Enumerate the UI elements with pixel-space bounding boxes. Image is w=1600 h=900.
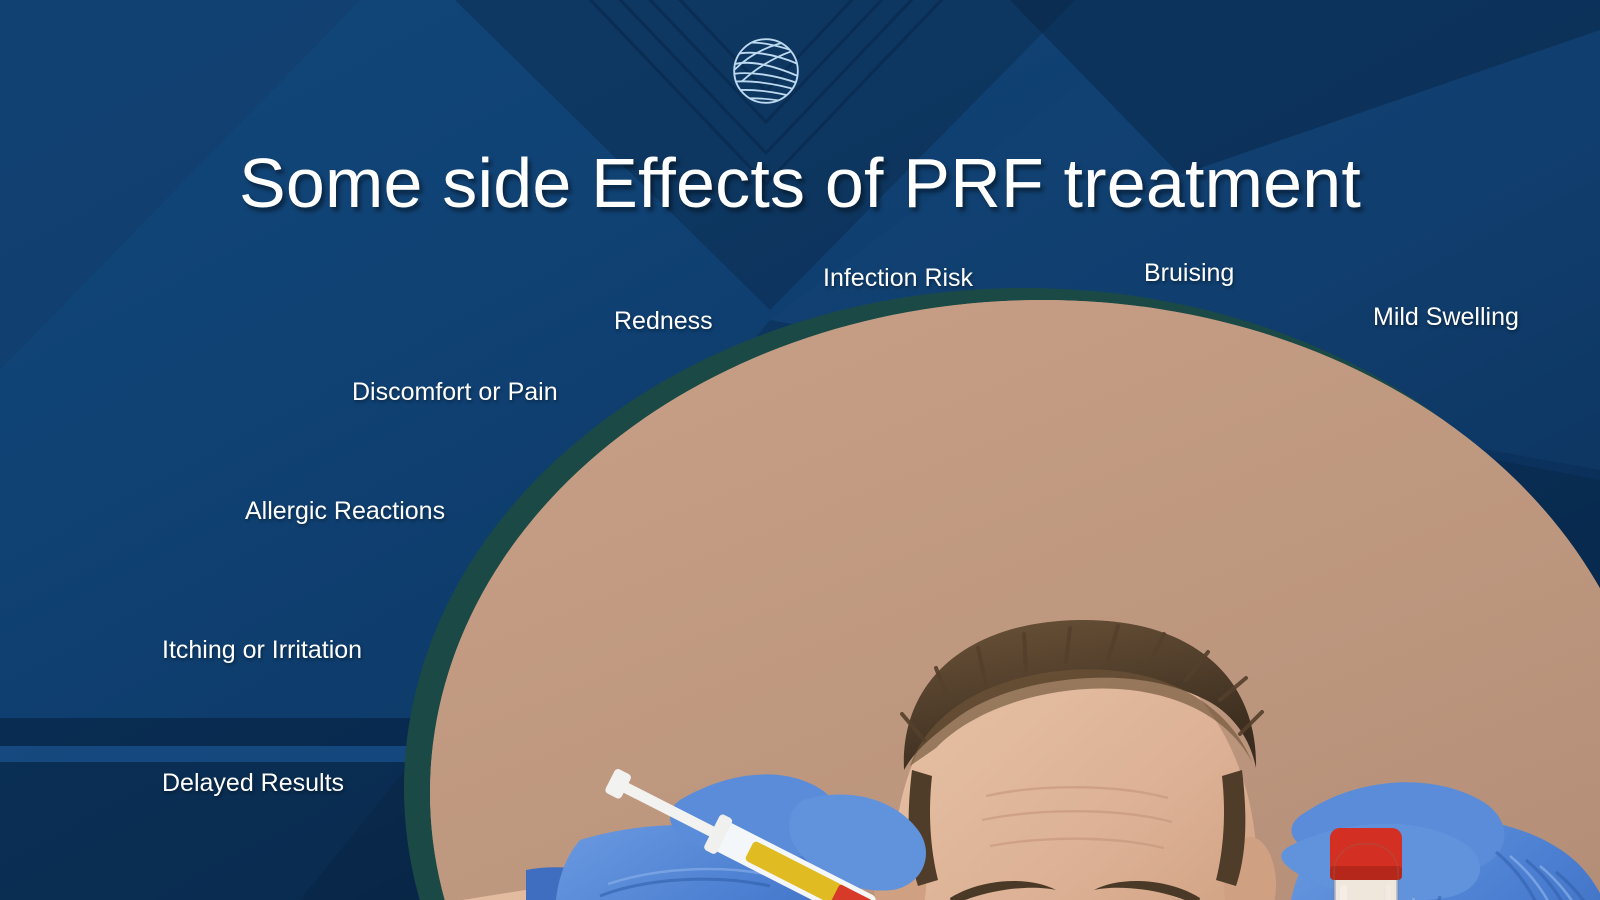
side-effect-label-itching-or-irritation: Itching or Irritation [162,636,362,665]
globe-sphere-logo-icon [723,28,809,114]
side-effect-label-redness: Redness [614,307,713,336]
side-effect-label-allergic-reactions: Allergic Reactions [245,497,445,526]
side-effect-label-discomfort-or-pain: Discomfort or Pain [352,378,558,407]
side-effect-label-mild-swelling: Mild Swelling [1373,303,1519,332]
side-effect-label-delayed-results: Delayed Results [162,769,344,798]
page-title: Some side Effects of PRF treatment [0,148,1600,218]
side-effect-label-infection-risk: Infection Risk [823,264,973,293]
prf-side-effects-slide: Some side Effects of PRF treatment [0,0,1600,900]
side-effect-label-bruising: Bruising [1144,259,1234,288]
